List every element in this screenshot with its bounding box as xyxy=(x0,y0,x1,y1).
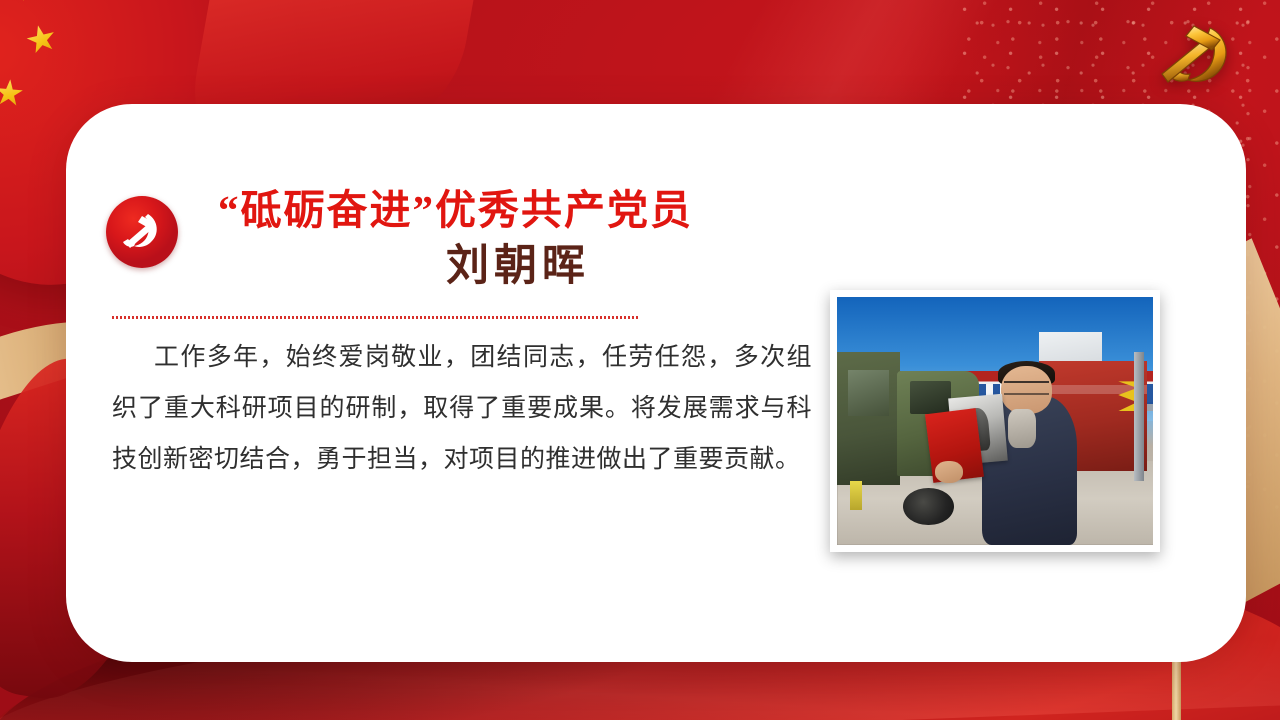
photo-person-scarf xyxy=(1008,409,1036,449)
flag-star-3 xyxy=(24,22,59,57)
member-name: 刘朝晖 xyxy=(218,240,818,294)
member-photo xyxy=(837,297,1153,545)
party-emblem-hammer-sickle-icon xyxy=(106,196,178,268)
dotted-divider xyxy=(112,316,640,319)
hammer-sickle-gold-icon xyxy=(1136,16,1256,98)
photo-left-green-vehicle xyxy=(837,352,900,486)
gold-flagpole-accent xyxy=(1172,656,1181,720)
flag-star-4 xyxy=(0,78,24,108)
photo-yellow-cone xyxy=(850,481,863,511)
photo-person-glasses xyxy=(1004,381,1048,395)
photo-person-hand xyxy=(935,461,963,483)
flag-star-2 xyxy=(0,0,37,5)
description-paragraph: 工作多年，始终爱岗敬业，团结同志，任劳任怨，多次组织了重大科研项目的研制，取得了… xyxy=(112,332,812,485)
photo-post xyxy=(1134,352,1143,481)
slide-root: “砥砺奋进”优秀共产党员 刘朝晖 工作多年，始终爱岗敬业，团结同志，任劳任怨，多… xyxy=(0,0,1280,720)
photo-truck-wheel xyxy=(903,488,954,525)
member-photo-frame xyxy=(830,290,1160,552)
photo-truck-window xyxy=(910,381,951,413)
page-title: “砥砺奋进”优秀共产党员 xyxy=(218,182,818,238)
content-card: “砥砺奋进”优秀共产党员 刘朝晖 工作多年，始终爱岗敬业，团结同志，任劳任怨，多… xyxy=(66,104,1246,662)
